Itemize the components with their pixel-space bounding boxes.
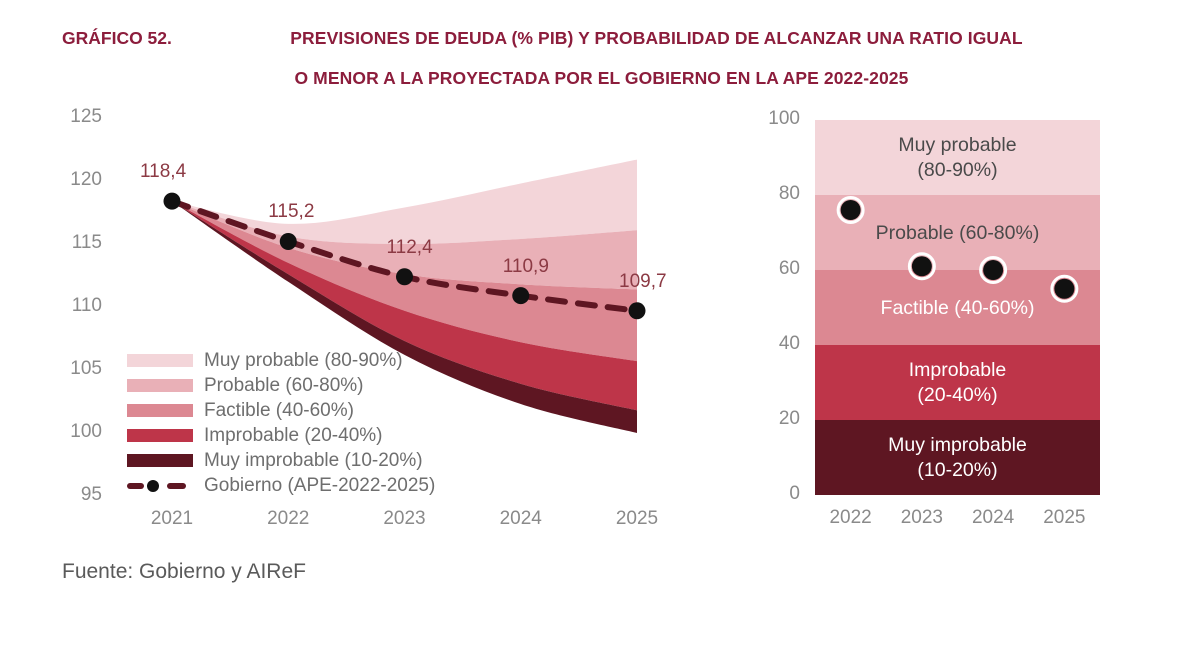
government-marker-2021 (164, 193, 181, 210)
fan-value-label-2024: 110,9 (503, 256, 549, 278)
legend-label: Gobierno (APE-2022-2025) (204, 475, 435, 497)
probability-band-4 (815, 420, 1100, 495)
probability-band-2 (815, 270, 1100, 345)
fan-chart-legend: Muy probable (80-90%)Probable (60-80%)Fa… (127, 348, 435, 498)
probability-marker-2023 (909, 254, 934, 279)
probability-band-3 (815, 345, 1100, 420)
legend-swatch-icon (127, 379, 193, 392)
government-marker-2023 (396, 268, 413, 285)
legend-swatch-icon (127, 404, 193, 417)
legend-row-1[interactable]: Probable (60-80%) (127, 373, 435, 398)
probability-marker-2024 (981, 258, 1006, 283)
legend-swatch-icon (127, 354, 193, 367)
fan-value-label-2021: 118,4 (140, 161, 186, 183)
probability-marker-2025 (1052, 276, 1077, 301)
fan-value-label-2022: 115,2 (268, 201, 314, 223)
probability-chart: 020406080100 2022202320242025 Muy probab… (740, 0, 1203, 540)
probability-chart-plot (740, 0, 1203, 540)
chart-page: GRÁFICO 52. PREVISIONES DE DEUDA (% PIB)… (0, 0, 1203, 647)
legend-row-3[interactable]: Improbable (20-40%) (127, 423, 435, 448)
legend-label: Factible (40-60%) (204, 400, 354, 422)
legend-label: Muy improbable (10-20%) (204, 450, 423, 472)
source-note: Fuente: Gobierno y AIReF (62, 560, 306, 584)
legend-row-2[interactable]: Factible (40-60%) (127, 398, 435, 423)
government-marker-2024 (512, 287, 529, 304)
probability-band-0 (815, 120, 1100, 195)
legend-row-5[interactable]: Gobierno (APE-2022-2025) (127, 473, 435, 498)
fan-value-label-2023: 112,4 (387, 237, 433, 259)
government-marker-2025 (629, 302, 646, 319)
legend-swatch-icon (127, 429, 193, 442)
probability-marker-2022 (838, 198, 863, 223)
fan-chart: 95100105110115120125 2021202220232024202… (0, 0, 720, 540)
fan-value-label-2025: 109,7 (619, 271, 667, 293)
legend-row-0[interactable]: Muy probable (80-90%) (127, 348, 435, 373)
legend-swatch-icon (127, 454, 193, 467)
legend-dashed-line-icon (127, 479, 193, 492)
legend-label: Probable (60-80%) (204, 375, 363, 397)
legend-label: Muy probable (80-90%) (204, 350, 403, 372)
legend-row-4[interactable]: Muy improbable (10-20%) (127, 448, 435, 473)
government-marker-2022 (280, 233, 297, 250)
legend-label: Improbable (20-40%) (204, 425, 382, 447)
